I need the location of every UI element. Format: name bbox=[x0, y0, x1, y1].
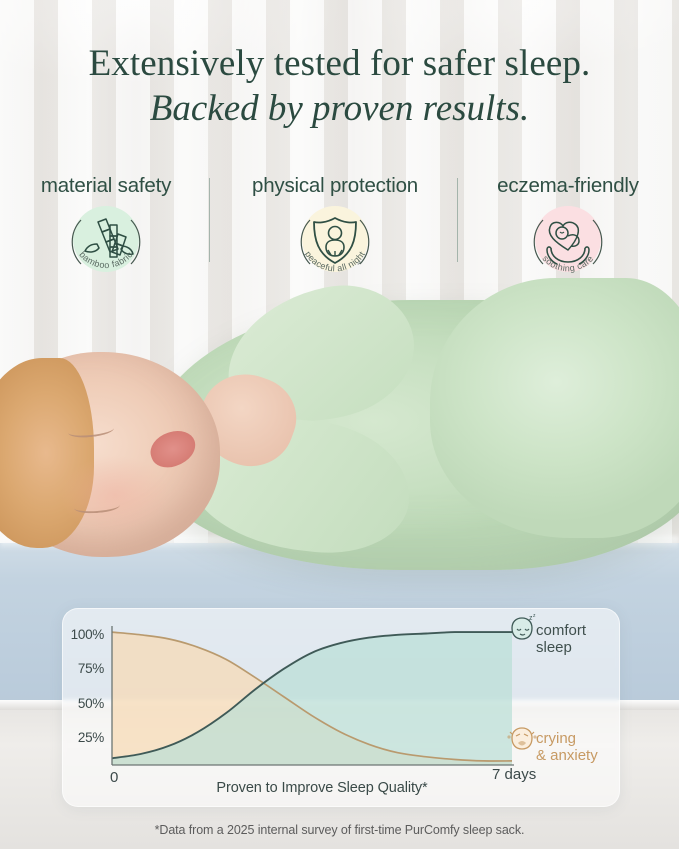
headline: Extensively tested for safer sleep. Back… bbox=[0, 42, 679, 132]
legend-label-crying: crying& anxiety bbox=[536, 730, 598, 764]
feature-label: physical protection bbox=[215, 174, 455, 198]
sleeping-baby-face-icon: z z bbox=[512, 613, 536, 639]
svg-text:z: z bbox=[533, 613, 536, 619]
legend-crying-anxiety: crying& anxiety bbox=[536, 730, 598, 764]
x-tick-end: 7 days bbox=[492, 766, 536, 783]
badge-caption-soothing: soothing care bbox=[541, 253, 596, 273]
x-tick-start: 0 bbox=[110, 769, 118, 786]
y-tick-75: 75% bbox=[62, 661, 104, 676]
baby-cheek bbox=[60, 455, 170, 535]
feature-eczema-friendly: eczema-friendly soothing care bbox=[462, 174, 674, 286]
product-infographic-page: Extensively tested for safer sleep. Back… bbox=[0, 0, 679, 849]
headline-line-2: Backed by proven results. bbox=[0, 86, 679, 132]
feature-label: eczema-friendly bbox=[462, 174, 674, 198]
y-tick-50: 50% bbox=[62, 696, 104, 711]
feature-material-safety: material safety bbox=[6, 174, 206, 286]
badge-bamboo-fabric: bamboo fabric bbox=[63, 200, 149, 286]
feature-divider-1 bbox=[209, 178, 210, 262]
svg-text:bamboo fabric: bamboo fabric bbox=[77, 249, 134, 270]
legend-comfort-sleep: comfortsleep bbox=[536, 622, 586, 656]
feature-divider-2 bbox=[457, 178, 458, 262]
baby-sleep-sack-lower bbox=[430, 278, 679, 538]
feature-row: material safety bbox=[0, 174, 679, 289]
svg-text:soothing care: soothing care bbox=[541, 253, 596, 273]
y-tick-25: 25% bbox=[62, 730, 104, 745]
badge-peaceful-all-night: peaceful all night bbox=[292, 200, 378, 286]
feature-label: material safety bbox=[6, 174, 206, 198]
feature-physical-protection: physical protection peaceful all night bbox=[215, 174, 455, 286]
badge-soothing-care: soothing care bbox=[525, 200, 611, 286]
legend-label-comfort: comfortsleep bbox=[536, 622, 586, 656]
badge-caption-bamboo: bamboo fabric bbox=[77, 249, 134, 270]
shield-baby-icon: peaceful all night bbox=[292, 200, 378, 286]
y-tick-100: 100% bbox=[62, 627, 104, 642]
bamboo-stalks-icon: bamboo fabric bbox=[63, 200, 149, 286]
chart-title: Proven to Improve Sleep Quality* bbox=[162, 780, 482, 796]
footnote: *Data from a 2025 internal survey of fir… bbox=[0, 823, 679, 837]
heart-hands-baby-icon: soothing care bbox=[525, 200, 611, 286]
sleep-quality-chart: z z 100% 75% 50% 25% 0 7 days Proven to … bbox=[62, 608, 618, 805]
headline-line-1: Extensively tested for safer sleep. bbox=[0, 42, 679, 86]
